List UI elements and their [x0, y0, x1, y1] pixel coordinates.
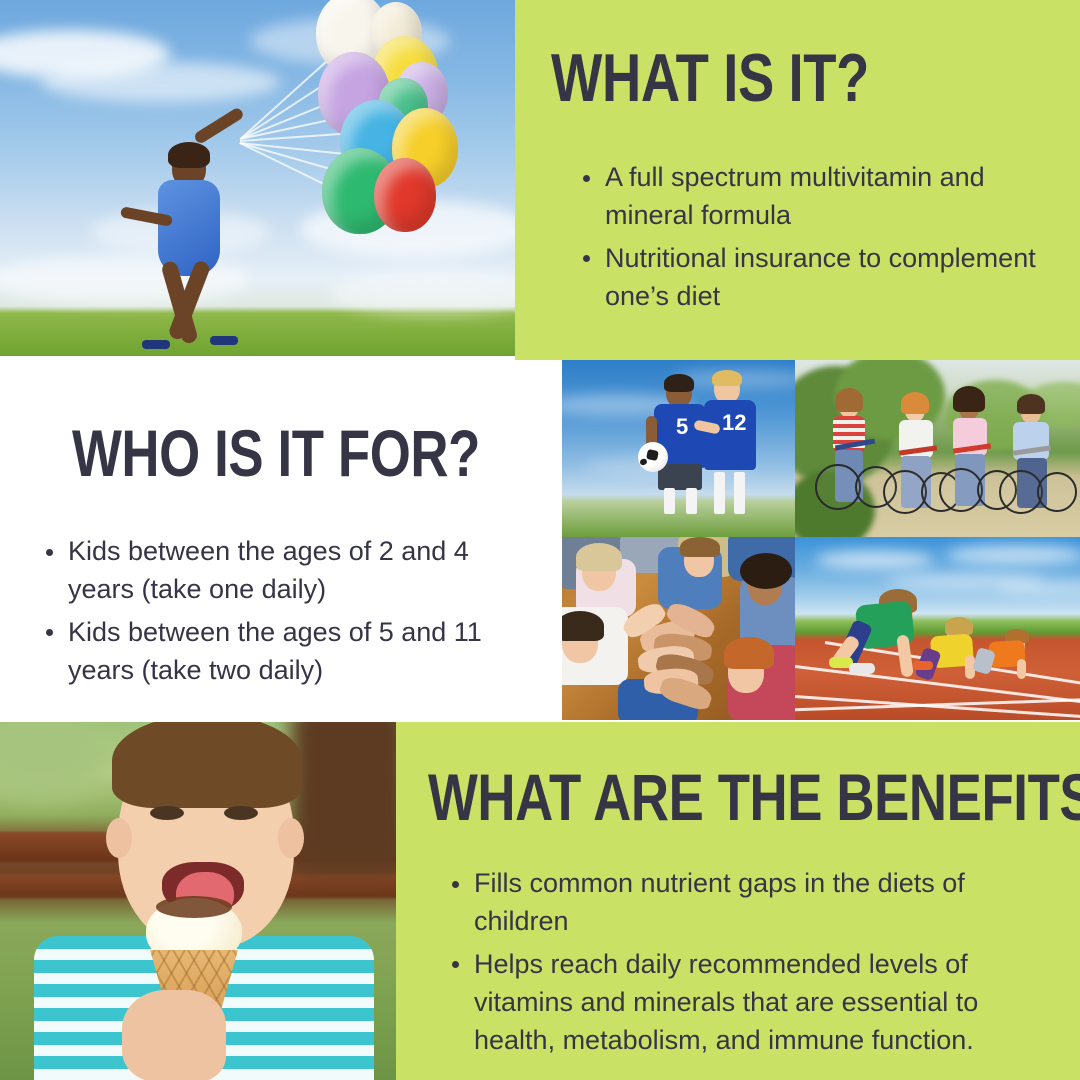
heading-what-is-it: WHAT IS IT? [551, 44, 950, 112]
ice-cream-topping [156, 896, 232, 918]
section-what-are-the-benefits: WHAT ARE THE BENEFITS? Fills common nutr… [396, 722, 1080, 1080]
list-item: Nutritional insurance to complement one’… [577, 239, 1050, 316]
track-scene [795, 537, 1080, 720]
list-item: Kids between the ages of 2 and 4 years (… [40, 532, 536, 609]
soccer-boy1-shorts [658, 464, 702, 490]
soccer-boy1-sock-right [686, 488, 697, 514]
bullet-list-who-is-it-for: Kids between the ages of 2 and 4 years (… [40, 532, 536, 689]
bicycles-scene [795, 360, 1080, 537]
photo-hands [562, 537, 795, 720]
list-item: Fills common nutrient gaps in the diets … [446, 864, 1058, 941]
balloons-scene [0, 0, 515, 356]
girl-braids [168, 142, 210, 168]
photo-icecream [0, 722, 396, 1080]
heading-who-is-it-for: WHO IS IT FOR? [72, 420, 443, 486]
list-item: Kids between the ages of 5 and 11 years … [40, 613, 536, 690]
boy-hand [122, 990, 226, 1080]
soccer-boy2-sock-right [734, 472, 745, 514]
section-what-is-it: WHAT IS IT? A full spectrum multivitamin… [515, 0, 1080, 360]
soccer-boy2-hair [712, 370, 742, 386]
girl-sandal-front [210, 336, 238, 345]
hands-scene [562, 537, 795, 720]
soccer-boy2-sock-left [714, 472, 725, 514]
balloon-red [374, 158, 436, 232]
soccer-scene: 5 12 [562, 360, 795, 537]
photo-soccer: 5 12 [562, 360, 795, 537]
girl-arm-up [193, 106, 245, 145]
photo-balloons [0, 0, 515, 356]
soccer-boy1-hair [664, 374, 694, 392]
section-who-is-it-for: WHO IS IT FOR? Kids between the ages of … [0, 360, 562, 720]
photo-grid: 5 12 [562, 360, 1080, 720]
soccer-boy1-number: 5 [676, 414, 688, 440]
infographic-poster: WHAT IS IT? A full spectrum multivitamin… [0, 0, 1080, 1080]
photo-track [795, 537, 1080, 720]
soccer-boy1-sock-left [664, 488, 675, 514]
girl-sandal-back [142, 340, 170, 349]
photo-bicycles [795, 360, 1080, 537]
soccer-boy2-number: 12 [722, 410, 746, 436]
soccer-ball [638, 442, 668, 472]
bullet-list-benefits: Fills common nutrient gaps in the diets … [446, 864, 1058, 1060]
list-item: Helps reach daily recommended levels of … [446, 945, 1058, 1060]
boy-hair [112, 722, 302, 808]
list-item: A full spectrum multivitamin and mineral… [577, 158, 1050, 235]
bullet-list-what-is-it: A full spectrum multivitamin and mineral… [577, 158, 1050, 315]
icecream-scene [0, 722, 396, 1080]
heading-what-are-the-benefits: WHAT ARE THE BENEFITS? [428, 764, 932, 830]
